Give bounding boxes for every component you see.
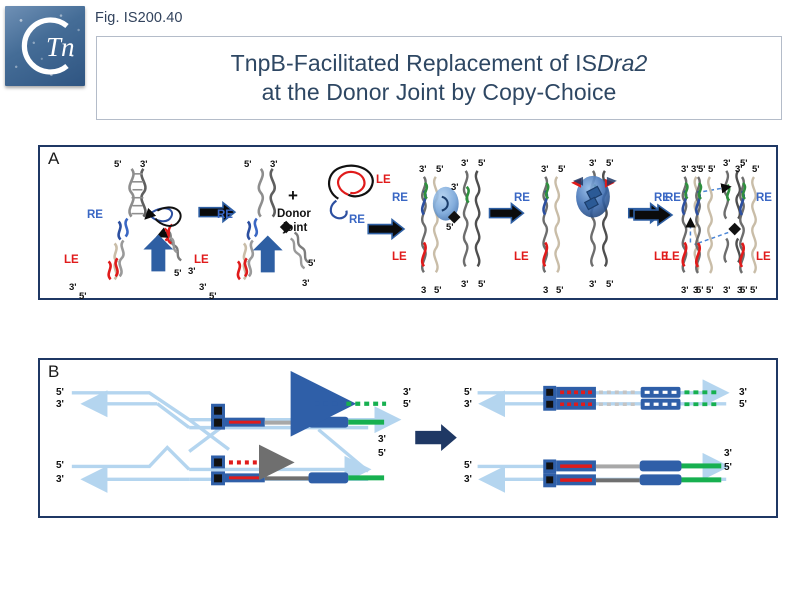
- step4-tnpb-binding: [544, 171, 617, 272]
- s2-bot-5prime: 5': [209, 292, 217, 302]
- bl-top-3prime: 3': [56, 400, 64, 410]
- title-line-1-italic: Dra2: [597, 50, 647, 76]
- step3-duplex-left: [422, 177, 437, 272]
- s4-left-5prime: 5': [558, 165, 566, 175]
- s1-right-3prime: 3': [188, 267, 196, 277]
- s2-top-5prime: 5': [244, 160, 252, 170]
- s3-left-5prime: 5': [436, 165, 444, 175]
- step6-duplex-right: [740, 177, 755, 273]
- br-bot-r-3prime: 3': [724, 449, 732, 459]
- s6-right-5prime: 5': [752, 165, 760, 175]
- s4-bot-5prime: 5': [556, 286, 564, 296]
- s6-le-right: LE: [756, 252, 771, 264]
- logo-artwork: Tn: [5, 6, 85, 86]
- s3-bot-3: 3: [421, 286, 426, 296]
- br-bot-5prime: 5': [464, 461, 472, 471]
- s2-arm-5prime: 5': [308, 259, 316, 269]
- transition-arrow-3: [490, 204, 524, 223]
- br-top-5prime: 5': [464, 388, 472, 398]
- s3-left-3prime: 3': [419, 165, 427, 175]
- step2-donor-joint-circle: [329, 166, 373, 219]
- transition-arrow-2: [368, 220, 404, 239]
- blue-up-arrow-2: [253, 236, 283, 273]
- b-left-is-bottom: [211, 471, 384, 485]
- s6-bot-5-left: 5': [706, 286, 714, 296]
- br-top-r-3prime: 3': [739, 388, 747, 398]
- br-top-3prime: 3': [464, 400, 472, 410]
- panel-b-left-forks: [72, 393, 398, 485]
- bl-bot-r-5prime: 5': [378, 449, 386, 459]
- s6-bot-5-right: 5': [750, 286, 758, 296]
- step6-duplex-left: [696, 177, 711, 273]
- figure-number: Fig. IS200.40: [95, 10, 183, 26]
- step1-right-arm: [164, 225, 181, 261]
- s3-r-3prime-top: 3': [461, 159, 469, 169]
- logo-tn-text: Tn: [46, 32, 75, 62]
- step2-le-arm: [238, 219, 257, 280]
- b-right-is-top-upper: [543, 386, 720, 399]
- s3-mid-3prime: 3': [451, 183, 459, 193]
- s2-donor-line1: Donor: [277, 209, 311, 221]
- title-line-1-pre: TnpB-Facilitated Replacement of IS: [231, 50, 597, 76]
- bl-top-r-5prime: 5': [403, 400, 411, 410]
- transition-arrow-5: [632, 202, 678, 228]
- panel-b-transition-arrow: [416, 426, 456, 450]
- s6-re-left: RE: [665, 193, 681, 205]
- isfinder-logo: Tn: [5, 6, 85, 86]
- step1-branched-donor: [109, 169, 182, 279]
- s4-le-label: LE: [514, 252, 529, 264]
- panel-b-graphics: [40, 360, 776, 519]
- panel-a: A: [38, 145, 778, 300]
- s1-top-5prime: 5': [114, 160, 122, 170]
- s6-left-5prime: 5': [708, 165, 716, 175]
- s1-bot-3prime: 3': [69, 283, 77, 293]
- s6-re-right: RE: [756, 193, 772, 205]
- s6-right-3prime: 3': [735, 165, 743, 175]
- panel-b-right-products: [478, 386, 727, 487]
- step4-duplex-left: [544, 177, 559, 272]
- s6-left-3prime: 3': [691, 165, 699, 175]
- s2-circle-re: RE: [349, 215, 365, 227]
- b-right-is-bottom-lower: [543, 473, 721, 487]
- s3-r-5prime-bot: 5': [478, 280, 486, 290]
- s1-bot-5prime: 5': [79, 292, 87, 302]
- step1-branch-loops: [151, 207, 180, 226]
- step3-duplex-right: [464, 171, 479, 266]
- b-right-is-top-lower: [543, 398, 720, 411]
- s3-r-3prime-bot: 3': [461, 280, 469, 290]
- s2-donor-line2: joint: [283, 223, 307, 235]
- step1-top-arm: [129, 169, 145, 217]
- s6-bot-3-left: 3: [693, 286, 698, 296]
- figure-page: Tn Fig. IS200.40 TnpB-Facilitated Replac…: [0, 0, 800, 600]
- br-bot-3prime: 3': [464, 475, 472, 485]
- s4-left-3prime: 3': [541, 165, 549, 175]
- s4-r-5prime-top: 5': [606, 159, 614, 169]
- panel-b: B: [38, 358, 778, 518]
- s4-r-3prime-top: 3': [589, 159, 597, 169]
- s4-bot-3: 3: [543, 286, 548, 296]
- step2-top-arm: [259, 169, 275, 217]
- b-left-is-top: [211, 404, 384, 430]
- s2-re-label: RE: [217, 210, 233, 222]
- step1-le-arm: [109, 219, 128, 280]
- title-line-1: TnpB-Facilitated Replacement of ISDra2: [231, 49, 648, 78]
- step2-right-arm: [291, 233, 309, 269]
- s3-re-label: RE: [392, 193, 408, 205]
- s3-r-5prime-top: 5': [478, 159, 486, 169]
- s3-inner-5prime: 5': [446, 223, 454, 233]
- br-top-r-5prime: 5': [739, 400, 747, 410]
- title-box: TnpB-Facilitated Replacement of ISDra2 a…: [96, 36, 782, 120]
- bl-bot-r-3prime: 3': [378, 435, 386, 445]
- s1-top-3prime: 3': [140, 160, 148, 170]
- s2-arm-3prime: 3': [302, 279, 310, 289]
- s3-bot-5prime: 5': [434, 286, 442, 296]
- b-right-is-bottom-upper: [543, 459, 721, 473]
- b-right-top-strands: [478, 393, 727, 404]
- s2-top-3prime: 3': [270, 160, 278, 170]
- br-bot-r-5prime: 5': [724, 463, 732, 473]
- s2-bot-3prime: 3': [199, 283, 207, 293]
- s3-le-label: LE: [392, 252, 407, 264]
- bl-bot-5prime: 5': [56, 461, 64, 471]
- b-left-nascent-lagging: [211, 455, 291, 468]
- s4-re-label: RE: [514, 193, 530, 205]
- s6-bot-3-right: 3: [737, 286, 742, 296]
- title-line-2: at the Donor Joint by Copy-Choice: [262, 78, 617, 107]
- s6-le-left: LE: [665, 252, 680, 264]
- s2-plus-sign: +: [288, 187, 298, 204]
- s1-re-label: RE: [87, 210, 103, 222]
- bl-bot-3prime: 3': [56, 475, 64, 485]
- s2-circle-le: LE: [376, 175, 391, 187]
- s2-le-label: LE: [194, 255, 209, 267]
- bl-top-r-3prime: 3': [403, 388, 411, 398]
- s4-r-3prime-bot: 3': [589, 280, 597, 290]
- s1-le-label: LE: [64, 255, 79, 267]
- s1-right-5prime: 5': [174, 269, 182, 279]
- bl-top-5prime: 5': [56, 388, 64, 398]
- s4-r-5prime-bot: 5': [606, 280, 614, 290]
